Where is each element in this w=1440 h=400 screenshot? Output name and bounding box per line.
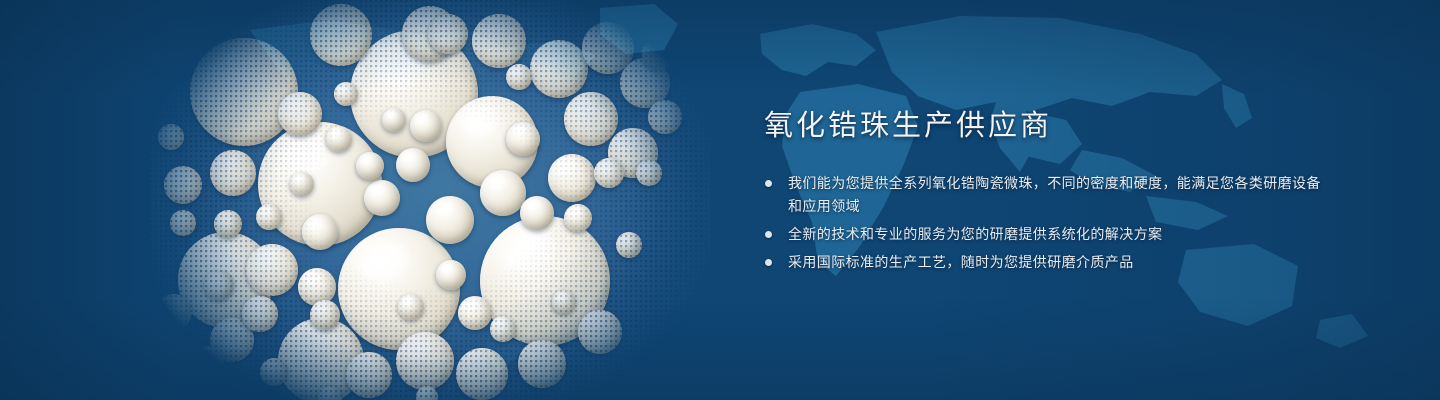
bullet-dot-icon [765,180,772,187]
bullet-text: 采用国际标准的生产工艺，随时为您提供研磨介质产品 [788,254,1134,270]
banner-headline: 氧化锆珠生产供应商 [764,106,1324,146]
feature-bullet-list: 我们能为您提供全系列氧化锆陶瓷微珠，不同的密度和硬度，能满足您各类研磨设备和应用… [764,172,1324,274]
hero-banner: 氧化锆珠生产供应商 我们能为您提供全系列氧化锆陶瓷微珠，不同的密度和硬度，能满足… [0,0,1440,400]
list-item: 采用国际标准的生产工艺，随时为您提供研磨介质产品 [764,251,1324,274]
bullet-text: 全新的技术和专业的服务为您的研磨提供系统化的解决方案 [788,226,1162,242]
halftone-dot-texture [150,0,710,400]
banner-content: 氧化锆珠生产供应商 我们能为您提供全系列氧化锆陶瓷微珠，不同的密度和硬度，能满足… [764,106,1324,279]
zirconia-beads-photo [150,0,710,400]
list-item: 全新的技术和专业的服务为您的研磨提供系统化的解决方案 [764,223,1324,246]
bullet-text: 我们能为您提供全系列氧化锆陶瓷微珠，不同的密度和硬度，能满足您各类研磨设备和应用… [788,175,1321,214]
bullet-dot-icon [765,231,772,238]
bullet-dot-icon [765,259,772,266]
list-item: 我们能为您提供全系列氧化锆陶瓷微珠，不同的密度和硬度，能满足您各类研磨设备和应用… [764,172,1324,218]
